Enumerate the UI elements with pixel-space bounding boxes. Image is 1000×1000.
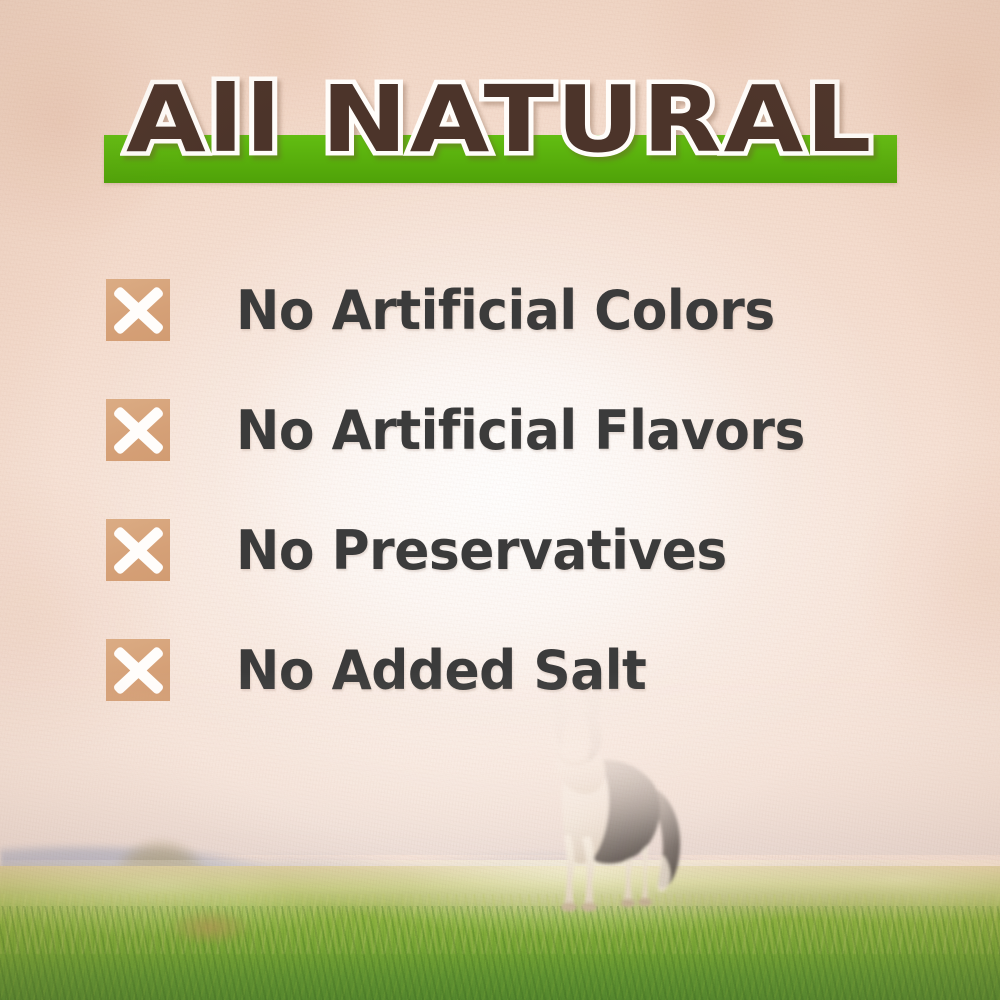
claim-label: No Artificial Flavors	[236, 399, 805, 462]
list-item: No Artificial Colors	[106, 250, 926, 370]
headline-text: All NATURAL	[126, 74, 874, 166]
headline-block: All NATURAL	[0, 74, 1000, 196]
list-item: No Artificial Flavors	[106, 370, 926, 490]
x-mark-icon	[106, 519, 170, 581]
x-mark-icon	[106, 399, 170, 461]
shrub	[150, 888, 270, 944]
claim-label: No Artificial Colors	[236, 279, 775, 342]
page-title: All NATURAL	[0, 74, 1000, 166]
dog-photo-subject	[508, 678, 708, 928]
photo-fade-mask	[0, 670, 1000, 1000]
claim-label: No Preservatives	[236, 519, 727, 582]
list-item: No Preservatives	[106, 490, 926, 610]
all-natural-feature-graphic: All NATURAL No Artificial Colors No Arti…	[0, 0, 1000, 1000]
x-mark-icon	[106, 279, 170, 341]
claims-list: No Artificial Colors No Artificial Flavo…	[106, 250, 926, 730]
landscape-photo	[0, 670, 1000, 1000]
